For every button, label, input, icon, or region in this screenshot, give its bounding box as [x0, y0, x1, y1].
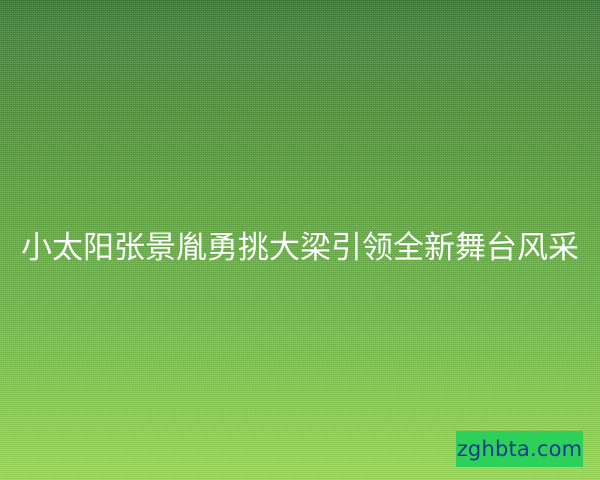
- banner-image: 小太阳张景胤勇挑大梁引领全新舞台风采 zghbta.com: [0, 0, 600, 480]
- watermark-domain-label: zghbta.com: [457, 439, 583, 460]
- headline-text: 小太阳张景胤勇挑大梁引领全新舞台风采: [0, 228, 600, 268]
- watermark-badge: zghbta.com: [456, 431, 583, 467]
